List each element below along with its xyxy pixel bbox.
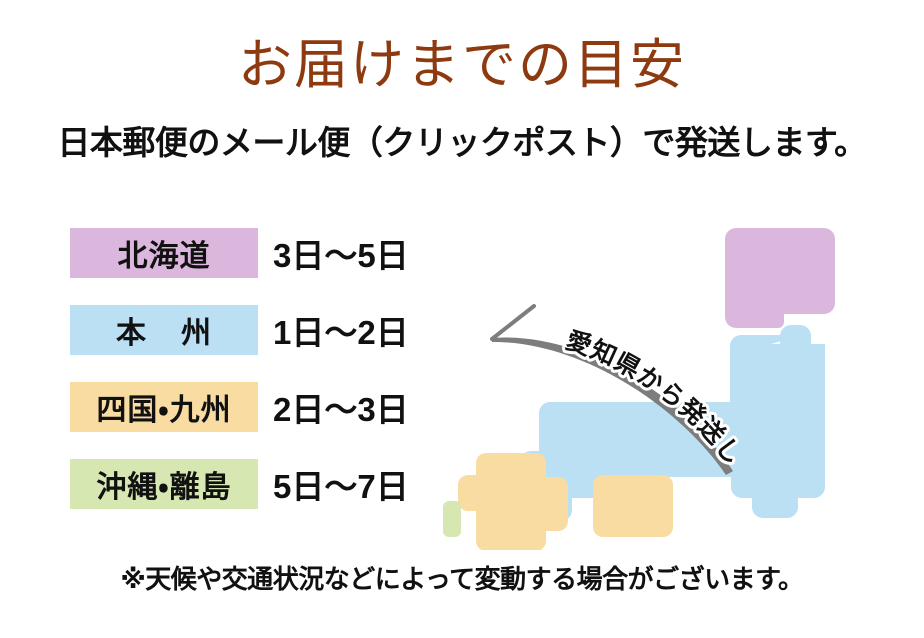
japan-map-svg (430, 205, 924, 550)
region-swatch-okinawa: 沖縄・離島 (70, 459, 258, 509)
shipping-estimate-graphic: お届けまでの目安 日本郵便のメール便（クリックポスト）で発送します。 北海道 3… (0, 0, 924, 638)
region-label-honshu-prefix: 本 (116, 308, 147, 352)
table-row: 四国・九州 2日〜3日 (70, 382, 470, 432)
region-label-honshu-suffix: 州 (181, 308, 212, 352)
japan-map-illustration (430, 205, 924, 550)
region-swatch-shikoku-kyushu: 四国・九州 (70, 382, 258, 432)
delivery-days-okinawa: 5日〜7日 (273, 459, 409, 509)
region-swatch-hokkaido: 北海道 (70, 228, 258, 278)
region-swatch-honshu: 本州 (70, 305, 258, 355)
table-row: 沖縄・離島 5日〜7日 (70, 459, 470, 509)
shipping-method-subtitle: 日本郵便のメール便（クリックポスト）で発送します。 (0, 122, 924, 164)
delivery-days-honshu: 1日〜2日 (273, 305, 409, 355)
map-region-okinawa (443, 501, 461, 537)
delivery-days-shikoku-kyushu: 2日〜3日 (273, 382, 409, 432)
map-region-shikoku (593, 475, 673, 537)
delivery-estimate-table: 北海道 3日〜5日 本州 1日〜2日 四国・九州 2日〜3日 沖縄・離島 5日〜… (70, 228, 470, 536)
table-row: 北海道 3日〜5日 (70, 228, 470, 278)
page-title: お届けまでの目安 (0, 34, 924, 96)
table-row: 本州 1日〜2日 (70, 305, 470, 355)
disclaimer-note: ※天候や交通状況などによって変動する場合がございます。 (0, 562, 924, 596)
map-region-hokkaido (725, 228, 835, 328)
delivery-days-hokkaido: 3日〜5日 (273, 228, 409, 278)
